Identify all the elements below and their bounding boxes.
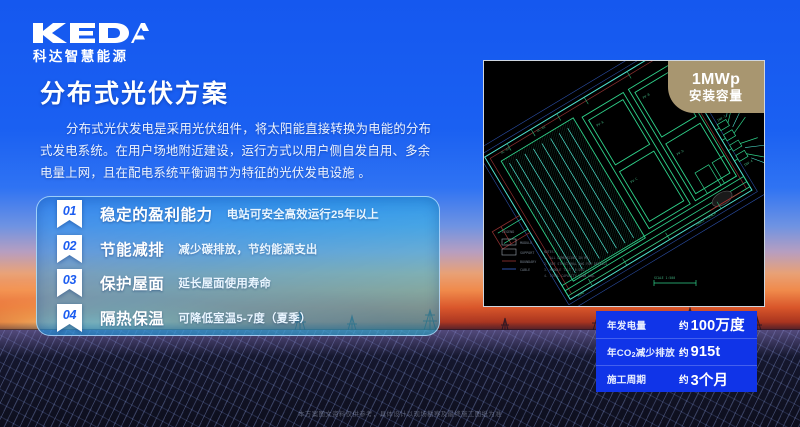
feature-title: 隔热保温 [100, 307, 164, 329]
feature-title: 节能减排 [100, 238, 164, 260]
svg-text:3. MODULE TILT 10 DEG.: 3. MODULE TILT 10 DEG. [544, 268, 586, 272]
metric-value: 915t [691, 344, 721, 360]
svg-text:BOUNDARY: BOUNDARY [520, 260, 536, 264]
feature-number: 01 [57, 204, 82, 218]
slide-root: 科达智慧能源 分布式光伏方案 分布式光伏发电是采用光伏组件，将太阳能直接转换为电… [0, 0, 800, 427]
feature-row[interactable]: 01 稳定的盈利能力 电站可安全高效运行25年以上 [37, 197, 439, 232]
metric-label-main: 年CO [607, 348, 632, 359]
page-title: 分布式光伏方案 [40, 74, 229, 110]
feature-title: 稳定的盈利能力 [100, 203, 213, 225]
feature-title: 保护屋面 [100, 272, 164, 294]
metric-value: 100万度 [691, 314, 745, 335]
feature-desc: 减少碳排放，节约能源支出 [178, 241, 317, 257]
feature-desc: 电站可安全高效运行25年以上 [227, 206, 379, 222]
metric-label: 年CO2减少排放 [607, 345, 679, 359]
footer-disclaimer: 本方案图文资料仅供参考，具体设计以现场勘察及最终施工图纸为准 [0, 409, 800, 418]
capacity-badge: 1MWp 安装容量 [668, 61, 764, 113]
metric-row: 年发电量 约 100万度 [596, 311, 757, 338]
feature-row[interactable]: 02 节能减排 减少碳排放，节约能源支出 [37, 232, 439, 267]
metric-approx: 约 [679, 318, 689, 332]
number-badge-icon: 04 [57, 304, 82, 332]
feature-desc: 延长屋面使用寿命 [178, 275, 271, 291]
feature-row[interactable]: 04 隔热保温 可降低室温5-7度（夏季） [37, 301, 439, 336]
svg-text:SCALE 1:500: SCALE 1:500 [654, 276, 675, 280]
metric-approx: 约 [679, 345, 689, 359]
feature-list-card: 01 稳定的盈利能力 电站可安全高效运行25年以上 02 节能减排 减少碳排放，… [36, 196, 440, 336]
cad-drawing-panel[interactable]: GL-01GL-02 PV-APV-B PV-CPV-D INV-1INV-4 … [483, 60, 765, 307]
metric-row: 施工周期 约 3个月 [596, 365, 757, 392]
feature-desc: 可降低室温5-7度（夏季） [178, 310, 311, 326]
capacity-value: 1MWp [692, 71, 740, 88]
logo-subtitle: 科达智慧能源 [33, 45, 173, 65]
number-badge-icon: 01 [57, 200, 82, 228]
metric-label: 年发电量 [607, 318, 679, 332]
feature-row[interactable]: 03 保护屋面 延长屋面使用寿命 [37, 266, 439, 301]
feature-number: 04 [57, 308, 82, 322]
number-badge-icon: 03 [57, 269, 82, 297]
brand-logo[interactable]: 科达智慧能源 [33, 22, 173, 60]
svg-text:NOTES:: NOTES: [544, 250, 556, 254]
metric-label: 施工周期 [607, 372, 679, 386]
capacity-label: 安装容量 [689, 88, 743, 104]
svg-text:MODULE: MODULE [520, 241, 532, 245]
metric-approx: 约 [679, 372, 689, 386]
key-metrics-panel: 年发电量 约 100万度 年CO2减少排放 约 915t 施工周期 约 3个月 [596, 311, 757, 392]
svg-text:CABLE: CABLE [520, 268, 530, 272]
svg-text:SUPPORT: SUPPORT [520, 251, 534, 255]
metric-label-subscript: 2 [632, 352, 636, 359]
svg-text:4. TOTAL CAPACITY 1000 kWp.: 4. TOTAL CAPACITY 1000 kWp. [544, 274, 596, 278]
metric-row: 年CO2减少排放 约 915t [596, 338, 757, 365]
svg-text:1. ALL DIMENSIONS IN MM.: 1. ALL DIMENSIONS IN MM. [544, 256, 590, 260]
metric-value: 3个月 [691, 369, 729, 390]
keda-logo-icon [33, 22, 149, 44]
number-badge-icon: 02 [57, 235, 82, 263]
feature-number: 03 [57, 273, 82, 287]
feature-number: 02 [57, 239, 82, 253]
intro-paragraph: 分布式光伏发电是采用光伏组件，将太阳能直接转换为电能的分布式发电系统。在用户场地… [40, 118, 438, 184]
metric-label-tail: 减少排放 [636, 348, 675, 359]
svg-text:2. SEE STRUCTURAL DWG FOR DETA: 2. SEE STRUCTURAL DWG FOR DETAILS. [544, 262, 609, 266]
svg-text:LEGEND: LEGEND [502, 230, 514, 234]
